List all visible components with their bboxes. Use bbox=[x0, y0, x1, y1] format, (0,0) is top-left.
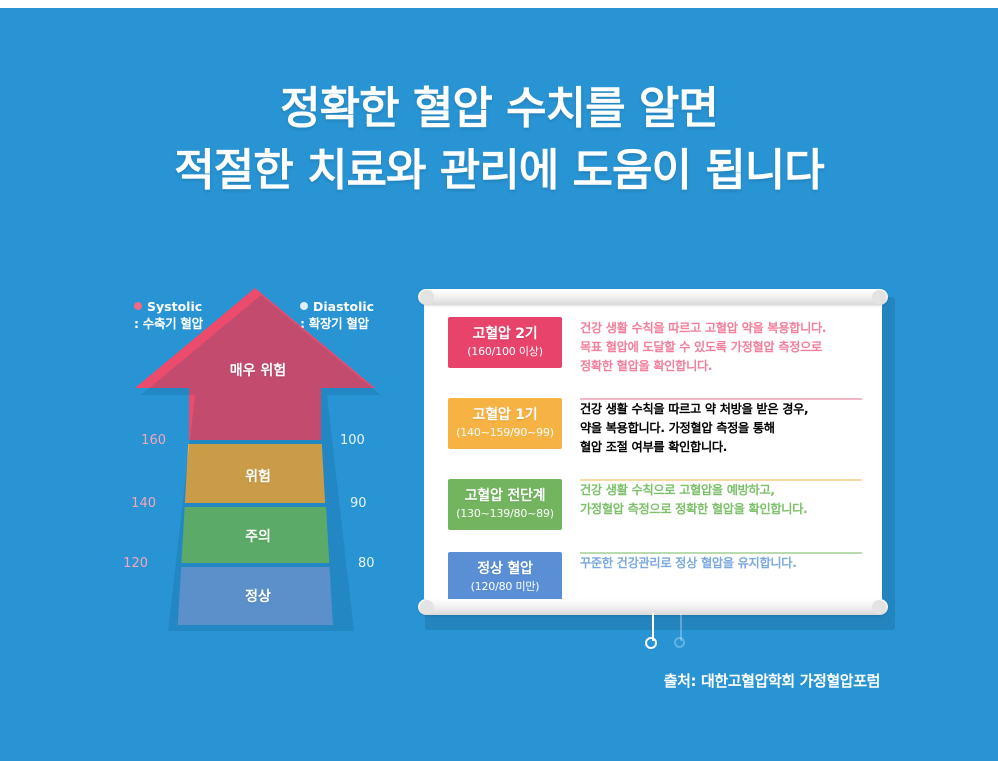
stage-badge-range: (140~159/90~99) bbox=[448, 425, 562, 440]
stage-badge: 고혈압 1기(140~159/90~99) bbox=[448, 398, 562, 449]
axis-right-80: 80 bbox=[358, 556, 394, 571]
stage-row: 고혈압 전단계(130~139/80~89)건강 생활 수칙으로 고혈압을 예방… bbox=[448, 479, 866, 541]
screen-top-bar bbox=[418, 289, 888, 305]
axis-left-120: 120 bbox=[116, 556, 148, 571]
row-divider bbox=[580, 552, 862, 554]
stage-description-line: 목표 혈압에 도달할 수 있도록 가정혈압 측정으로 bbox=[580, 338, 866, 357]
stage-badge: 정상 혈압(120/80 미만) bbox=[448, 552, 562, 603]
stage-badge: 고혈압 2기(160/100 이상) bbox=[448, 317, 562, 368]
page-title: 정확한 혈압 수치를 알면 적절한 치료와 관리에 도움이 됩니다 bbox=[0, 78, 998, 202]
stage-description-line: 건강 생활 수칙을 따르고 고혈압 약을 복용합니다. bbox=[580, 319, 866, 338]
stage-badge-title: 고혈압 2기 bbox=[448, 325, 562, 343]
top-bar-cap-left bbox=[420, 290, 434, 304]
top-bar-cap-right bbox=[872, 290, 886, 304]
stage-badge-range: (160/100 이상) bbox=[448, 344, 562, 359]
stage-description-line: 꾸준한 건강관리로 정상 혈압을 유지합니다. bbox=[580, 554, 866, 573]
axis-right-100: 100 bbox=[340, 433, 376, 448]
stage-badge-range: (120/80 미만) bbox=[448, 579, 562, 594]
row-divider bbox=[580, 479, 862, 481]
row-divider bbox=[580, 398, 862, 400]
stage-description: 건강 생활 수칙을 따르고 고혈압 약을 복용합니다.목표 혈압에 도달할 수 … bbox=[580, 317, 866, 376]
axis-left-140: 140 bbox=[124, 496, 156, 511]
headline-line-1: 정확한 혈압 수치를 알면 bbox=[0, 78, 998, 140]
stage-badge-range: (130~139/80~89) bbox=[448, 506, 562, 521]
stage-description: 건강 생활 수칙으로 고혈압을 예방하고,가정혈압 측정으로 정확한 혈압을 확… bbox=[580, 479, 866, 519]
axis-right-90: 90 bbox=[350, 496, 386, 511]
infographic-canvas: 정확한 혈압 수치를 알면 적절한 치료와 관리에 도움이 됩니다 Systol… bbox=[0, 0, 998, 761]
stage-row: 고혈압 2기(160/100 이상)건강 생활 수칙을 따르고 고혈압 약을 복… bbox=[448, 317, 866, 387]
pull-ring-icon[interactable] bbox=[645, 637, 657, 649]
stage-description-line: 건강 생활 수칙을 따르고 약 처방을 받은 경우, bbox=[580, 400, 866, 419]
stage-badge: 고혈압 전단계(130~139/80~89) bbox=[448, 479, 562, 530]
bottom-bar-cap-left bbox=[420, 600, 434, 614]
blood-pressure-arrow-chart: 매우 위험 위험 주의 정상 160 140 120 100 90 80 bbox=[118, 284, 398, 634]
pull-ring-shadow bbox=[674, 637, 685, 648]
axis-left-160: 160 bbox=[134, 433, 166, 448]
stage-description-line: 가정혈압 측정으로 정확한 혈압을 확인합니다. bbox=[580, 500, 866, 519]
stage-description-line: 혈압 조절 여부를 확인합니다. bbox=[580, 438, 866, 457]
source-credit: 출처: 대한고혈압학회 가정혈압포럼 bbox=[0, 670, 880, 691]
arrow-shadow bbox=[124, 291, 404, 641]
headline-line-2: 적절한 치료와 관리에 도움이 됩니다 bbox=[0, 140, 998, 202]
stage-description-line: 정확한 혈압을 확인합니다. bbox=[580, 357, 866, 376]
screen-surface: 고혈압 2기(160/100 이상)건강 생활 수칙을 따르고 고혈압 약을 복… bbox=[424, 303, 882, 599]
stage-description: 건강 생활 수칙을 따르고 약 처방을 받은 경우,약을 복용합니다. 가정혈압… bbox=[580, 398, 866, 457]
projector-screen: 고혈압 2기(160/100 이상)건강 생활 수칙을 따르고 고혈압 약을 복… bbox=[418, 289, 888, 622]
stage-badge-title: 고혈압 1기 bbox=[448, 406, 562, 424]
stage-description: 꾸준한 건강관리로 정상 혈압을 유지합니다. bbox=[580, 552, 866, 573]
stage-badge-title: 고혈압 전단계 bbox=[448, 487, 562, 505]
stage-badge-title: 정상 혈압 bbox=[448, 560, 562, 578]
stage-description-line: 약을 복용합니다. 가정혈압 측정을 통해 bbox=[580, 419, 866, 438]
stage-description-line: 건강 생활 수칙으로 고혈압을 예방하고, bbox=[580, 481, 866, 500]
stage-list: 고혈압 2기(160/100 이상)건강 생활 수칙을 따르고 고혈압 약을 복… bbox=[448, 317, 866, 625]
bottom-bar-cap-right bbox=[872, 600, 886, 614]
stage-row: 고혈압 1기(140~159/90~99)건강 생활 수칙을 따르고 약 처방을… bbox=[448, 398, 866, 468]
